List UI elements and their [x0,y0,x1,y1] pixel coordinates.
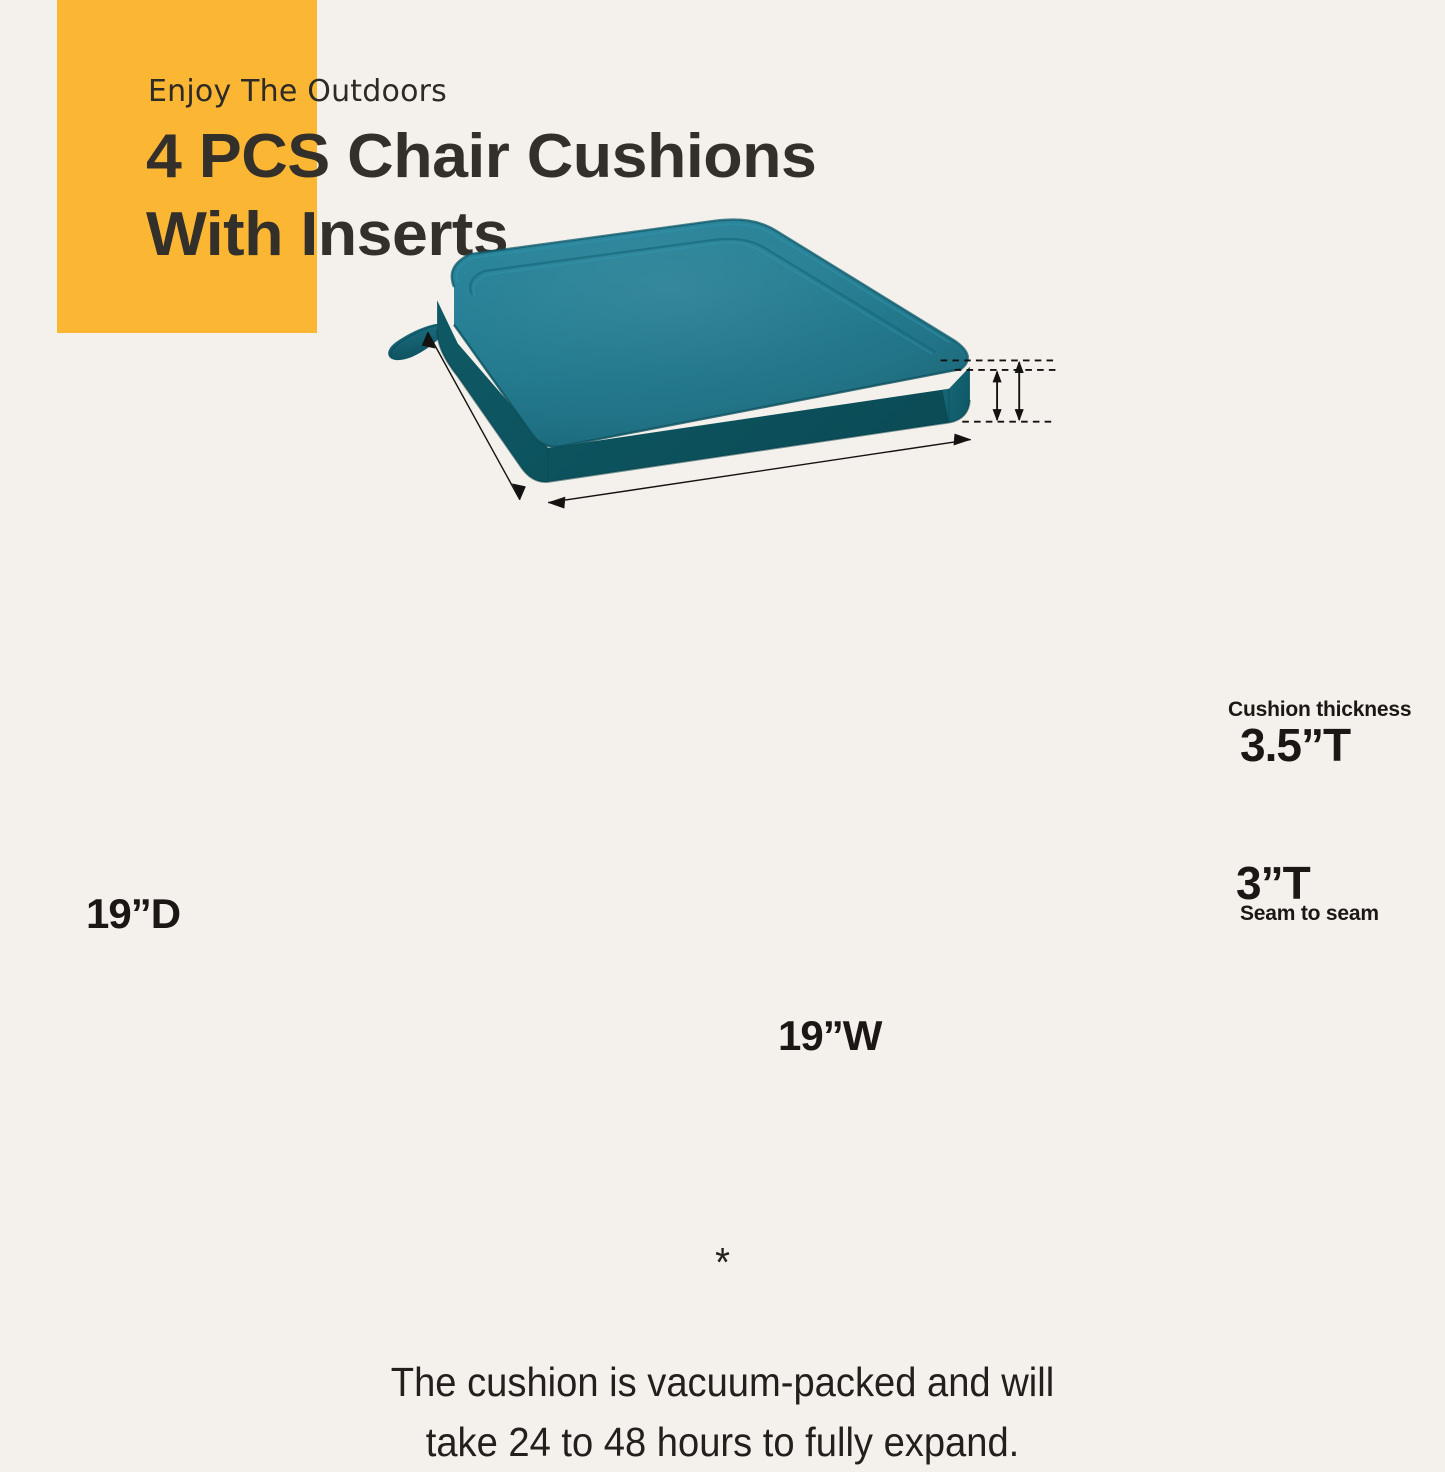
total-thickness-label: 3.5”T [1240,718,1350,772]
footnote-line-1: * The cushion is vacuum-packed and will [51,1232,1395,1412]
seam-to-seam-caption: Seam to seam [1240,902,1379,926]
footnote: * The cushion is vacuum-packed and will … [51,1232,1395,1472]
cushion-illustration [0,0,1445,680]
seam-thickness-arrow [993,371,1001,421]
footnote-line-2: take 24 to 48 hours to fully expand. [51,1412,1395,1472]
footnote-text-1: The cushion is vacuum-packed and will [51,1352,1395,1412]
footnote-marker: * [51,1232,1395,1292]
total-thickness-arrow [1015,361,1023,420]
width-dimension-label: 19”W [778,1012,881,1060]
infographic-canvas: Enjoy The Outdoors 4 PCS Chair Cushions … [0,0,1445,1445]
depth-dimension-label: 19”D [86,890,180,938]
